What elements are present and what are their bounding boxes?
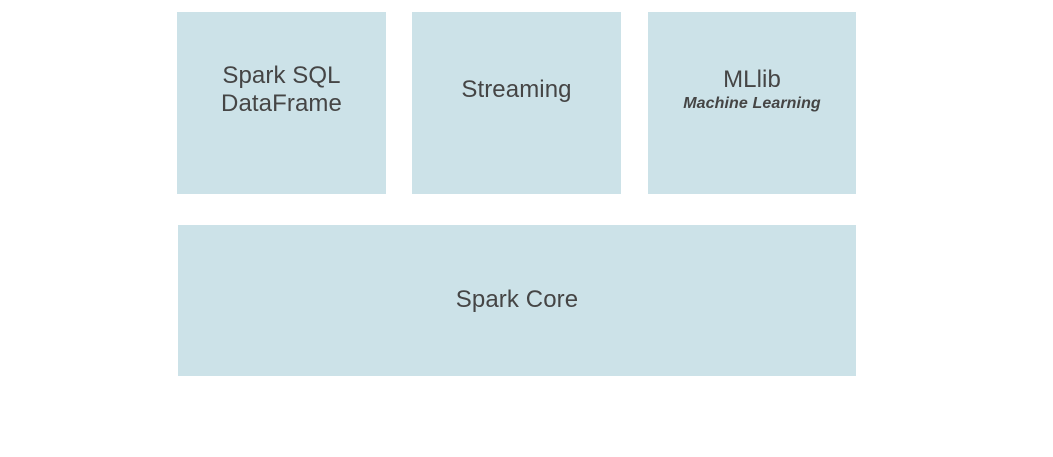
layer-box-mllib[interactable]: MLlib Machine Learning — [648, 12, 856, 194]
layer-subtitle-mllib: Machine Learning — [683, 95, 821, 114]
layer-title-mllib: MLlib — [723, 66, 781, 94]
layer-title-spark-sql-line1: Spark SQL — [222, 62, 340, 90]
layer-box-spark-sql[interactable]: Spark SQL DataFrame — [177, 12, 386, 194]
layer-title-spark-core: Spark Core — [456, 286, 578, 314]
layer-title-streaming: Streaming — [461, 76, 571, 104]
layer-box-spark-core[interactable]: Spark Core — [178, 225, 856, 376]
diagram-canvas: Spark SQL DataFrame Streaming MLlib Mach… — [0, 0, 1053, 457]
layer-box-streaming[interactable]: Streaming — [412, 12, 621, 194]
layer-title-spark-sql-line2: DataFrame — [221, 90, 342, 118]
